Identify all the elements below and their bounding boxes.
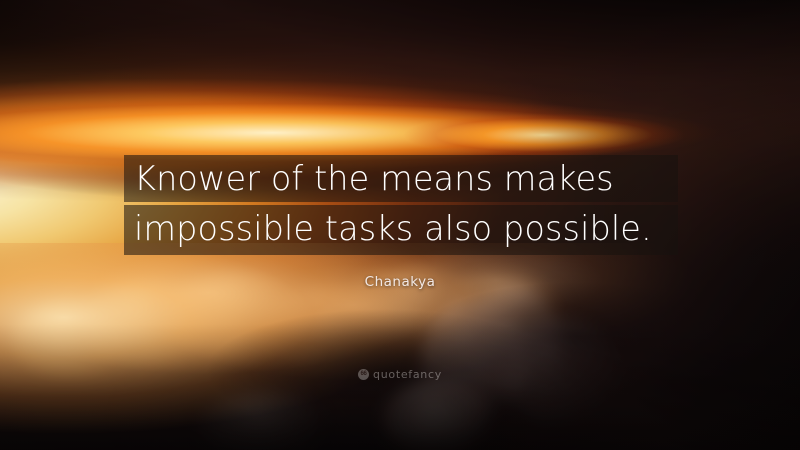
quote-poster: Knower of the means makes impossible tas… — [0, 0, 800, 450]
quote-line-2: impossible tasks also possible. — [124, 205, 678, 255]
watermark-label: quotefancy — [373, 368, 442, 381]
quote-line-1: Knower of the means makes — [124, 155, 678, 202]
quotation-mark-icon: 66 — [358, 369, 369, 380]
watermark: 66 quotefancy — [0, 368, 800, 381]
quote-block: Knower of the means makes impossible tas… — [124, 155, 678, 255]
quote-author: Chanakya — [0, 274, 800, 290]
